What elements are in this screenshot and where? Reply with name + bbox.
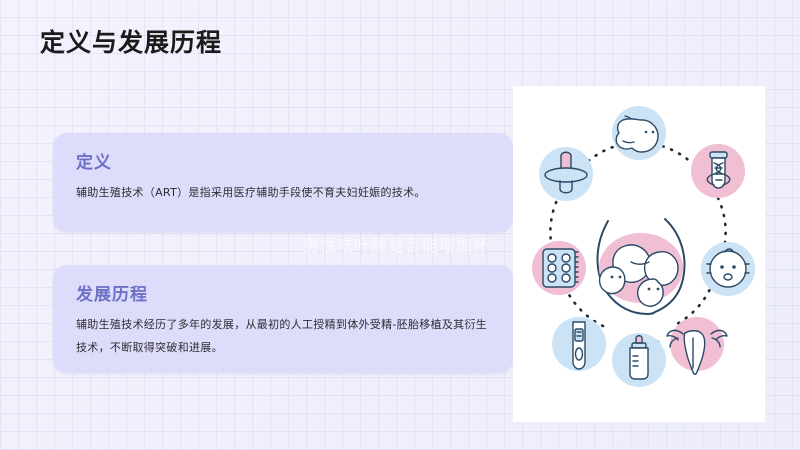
definition-card: 定义 辅助生殖技术（ART）是指采用医疗辅助手段使不育夫妇妊娠的技术。 xyxy=(53,133,513,232)
pill-blister-icon xyxy=(532,241,586,295)
watermark-text: 男性吃叶酸是否能增加怀 xyxy=(303,236,490,256)
page-title: 定义与发展历程 xyxy=(40,26,222,60)
assisted-reproduction-illustration: .ln{fill:none;stroke:#2c4a66;stroke-widt… xyxy=(513,86,765,422)
twin-fetus-womb-icon xyxy=(597,219,684,314)
pacifier-icon xyxy=(539,147,593,201)
history-card-heading: 发展历程 xyxy=(76,280,148,305)
pregnancy-test-icon xyxy=(552,317,606,371)
history-card: 发展历程 辅助生殖技术经历了多年的发展，从最初的人工授精到体外受精‑胚胎移植及其… xyxy=(53,265,513,373)
uterus-icon xyxy=(667,317,727,374)
dna-test-tube-icon xyxy=(691,144,745,198)
slide-canvas: 定义与发展历程 定义 辅助生殖技术（ART）是指采用医疗辅助手段使不育夫妇妊娠的… xyxy=(0,0,800,450)
illustration-panel: .ln{fill:none;stroke:#2c4a66;stroke-widt… xyxy=(513,86,765,422)
definition-card-body: 辅助生殖技术（ART）是指采用医疗辅助手段使不育夫妇妊娠的技术。 xyxy=(76,181,493,204)
definition-card-heading: 定义 xyxy=(76,148,112,173)
baby-face-icon xyxy=(701,242,755,296)
history-card-body: 辅助生殖技术经历了多年的发展，从最初的人工授精到体外受精‑胚胎移植及其衍生技术，… xyxy=(76,313,493,359)
fetus-icon xyxy=(612,106,666,160)
baby-bottle-icon xyxy=(612,333,666,387)
